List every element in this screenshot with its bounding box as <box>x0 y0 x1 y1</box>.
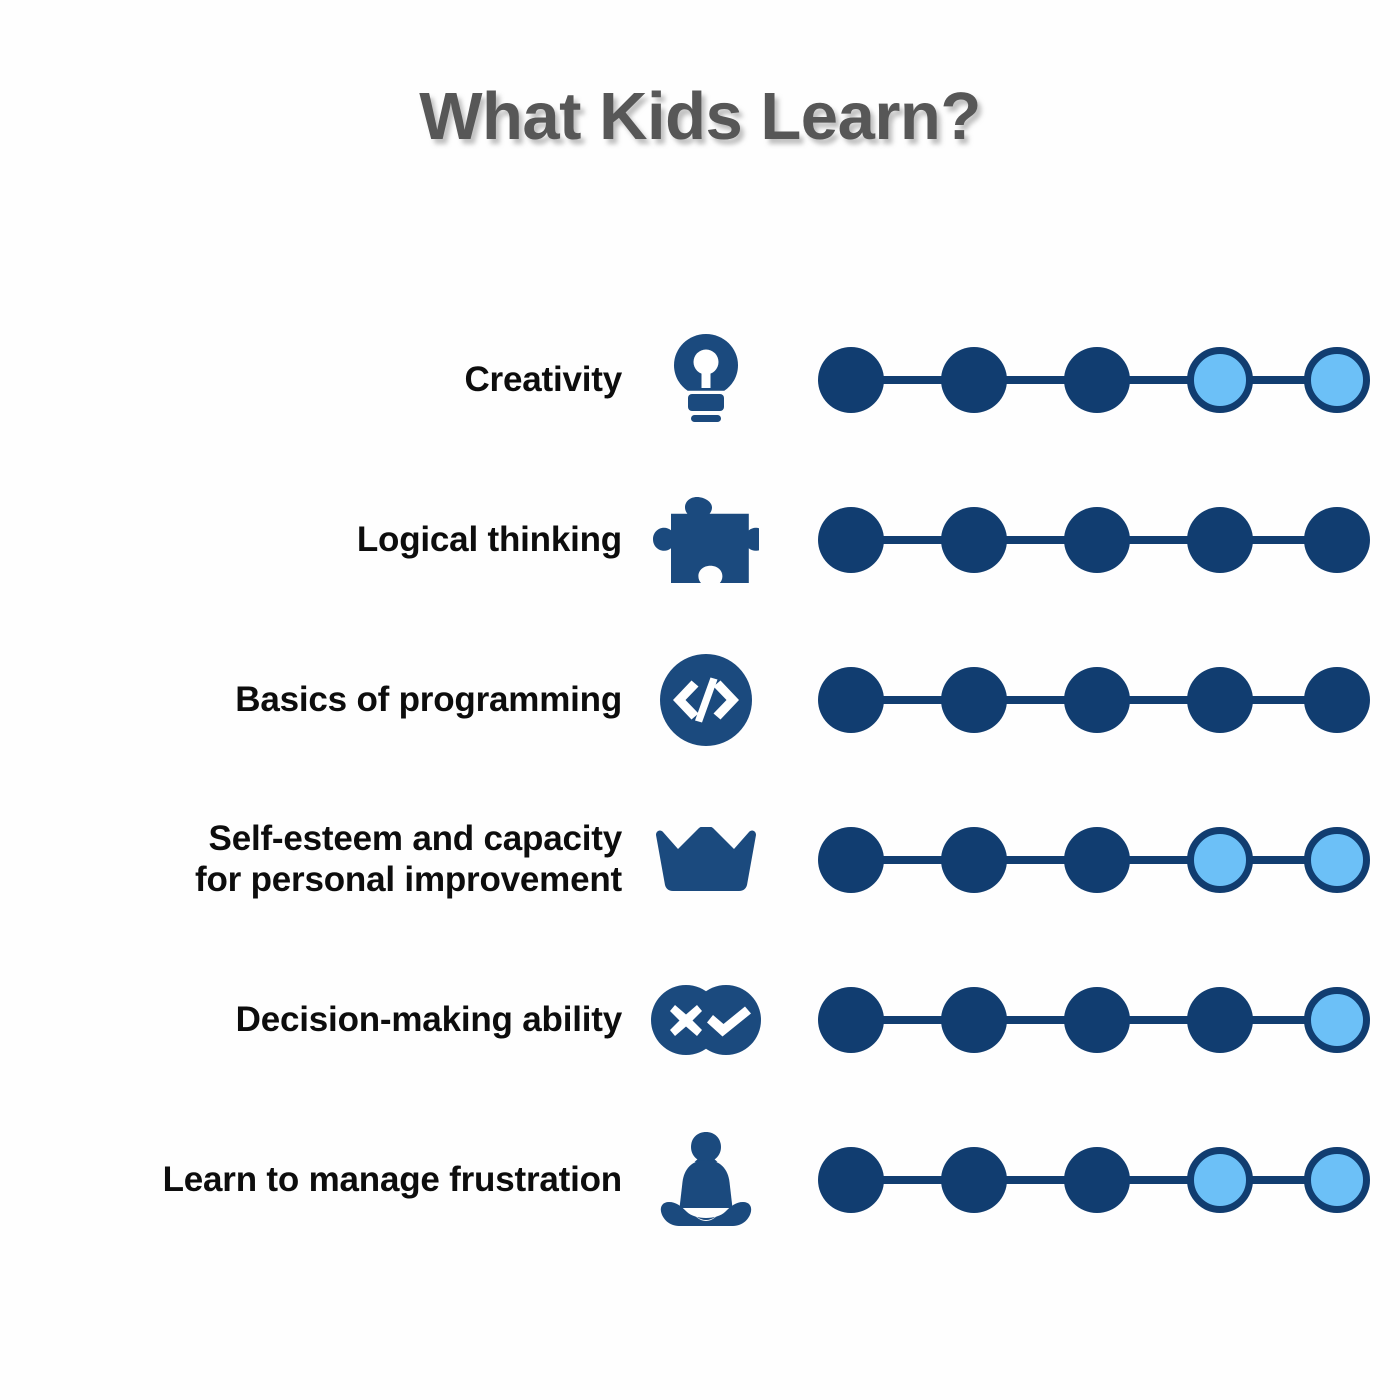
rating-dot <box>1187 507 1253 573</box>
rating-dot <box>1187 987 1253 1053</box>
rating-dot <box>1304 347 1370 413</box>
rating-dot <box>1064 827 1130 893</box>
rating-dot <box>818 827 884 893</box>
rating-dot <box>1064 667 1130 733</box>
rating-track <box>818 780 1370 940</box>
crown-icon <box>650 780 762 940</box>
skill-label: Self-esteem and capacity for personal im… <box>195 780 622 940</box>
rating-track <box>818 460 1370 620</box>
rating-dot <box>818 347 884 413</box>
list-item: Self-esteem and capacity for personal im… <box>0 780 1400 940</box>
infographic-page: What Kids Learn? Creativity <box>0 0 1400 1400</box>
list-item: Learn to manage frustration <box>0 1100 1400 1260</box>
rating-dot <box>818 507 884 573</box>
rating-dot <box>941 347 1007 413</box>
rating-dot <box>818 1147 884 1213</box>
skill-label: Creativity <box>464 300 622 460</box>
rating-dot <box>941 827 1007 893</box>
rating-dot <box>1064 1147 1130 1213</box>
rating-dot <box>941 1147 1007 1213</box>
rating-dot <box>1064 507 1130 573</box>
rating-dot <box>1187 667 1253 733</box>
rating-dot <box>818 987 884 1053</box>
code-brackets-icon <box>650 620 762 780</box>
skill-label: Decision-making ability <box>236 940 622 1100</box>
rating-dot <box>941 507 1007 573</box>
rating-dot <box>1304 1147 1370 1213</box>
rating-track <box>818 620 1370 780</box>
rating-dot <box>1304 667 1370 733</box>
rating-dot <box>1187 827 1253 893</box>
rating-track <box>818 940 1370 1100</box>
skill-label: Basics of programming <box>235 620 622 780</box>
skill-label: Logical thinking <box>357 460 622 620</box>
cross-check-icon <box>650 940 762 1100</box>
rating-dot <box>941 667 1007 733</box>
rating-dot <box>1304 987 1370 1053</box>
rating-dot <box>1187 1147 1253 1213</box>
rating-dot <box>941 987 1007 1053</box>
rating-dot <box>1304 827 1370 893</box>
page-title: What Kids Learn? <box>0 78 1400 155</box>
puzzle-piece-icon <box>650 460 762 620</box>
lightbulb-icon <box>650 300 762 460</box>
list-item: Creativity <box>0 300 1400 460</box>
list-item: Logical thinking <box>0 460 1400 620</box>
rating-dot <box>1187 347 1253 413</box>
rating-track <box>818 300 1370 460</box>
rating-dot <box>1064 987 1130 1053</box>
list-item: Basics of programming <box>0 620 1400 780</box>
rating-dot <box>818 667 884 733</box>
skills-list: Creativity <box>0 300 1400 1260</box>
list-item: Decision-making ability <box>0 940 1400 1100</box>
rating-track <box>818 1100 1370 1260</box>
rating-dot <box>1304 507 1370 573</box>
skill-label: Learn to manage frustration <box>163 1100 622 1260</box>
meditation-icon <box>650 1100 762 1260</box>
rating-dot <box>1064 347 1130 413</box>
